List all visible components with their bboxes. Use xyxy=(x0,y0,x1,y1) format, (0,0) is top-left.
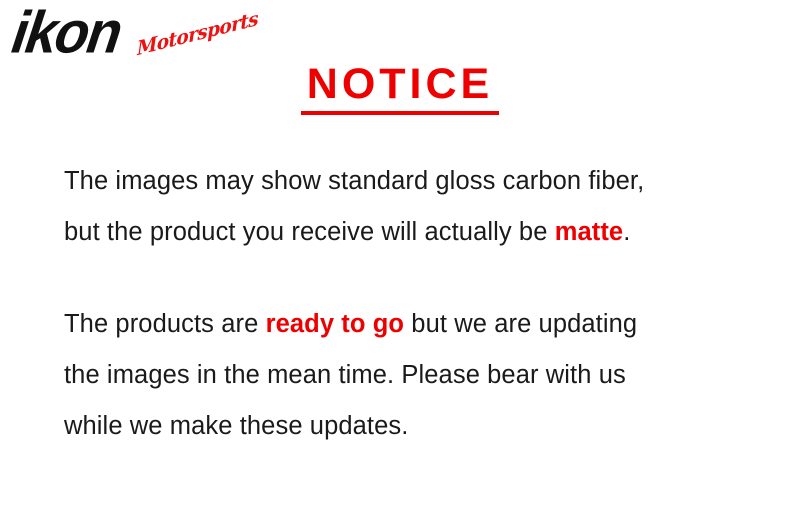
body-text: . xyxy=(623,218,630,246)
emphasis-text: matte xyxy=(555,218,624,246)
brand-script-motorsports: Motorsports xyxy=(137,10,259,60)
page-title: NOTICE xyxy=(301,62,499,115)
notice-line: but the product you receive will actuall… xyxy=(64,207,764,258)
body-text: while we make these updates. xyxy=(64,412,408,440)
notice-line: The images may show standard gloss carbo… xyxy=(64,156,764,207)
notice-paragraph: The products are ready to go but we are … xyxy=(64,299,764,452)
body-text: but we are updating xyxy=(404,310,637,338)
notice-line: while we make these updates. xyxy=(64,401,764,452)
notice-paragraph: The images may show standard gloss carbo… xyxy=(64,156,764,258)
body-text: but the product you receive will actuall… xyxy=(64,218,555,246)
notice-heading-wrap: NOTICE xyxy=(0,62,800,115)
brand-wordmark: ikon xyxy=(4,3,130,62)
notice-body: The images may show standard gloss carbo… xyxy=(64,156,764,452)
notice-page: ikon Motorsports NOTICE The images may s… xyxy=(0,0,800,510)
notice-line: The products are ready to go but we are … xyxy=(64,299,764,350)
emphasis-text: ready to go xyxy=(266,310,405,338)
body-text: The products are xyxy=(64,310,266,338)
body-text: the images in the mean time. Please bear… xyxy=(64,361,626,389)
body-text: The images may show standard gloss carbo… xyxy=(64,167,644,195)
notice-line: the images in the mean time. Please bear… xyxy=(64,350,764,401)
